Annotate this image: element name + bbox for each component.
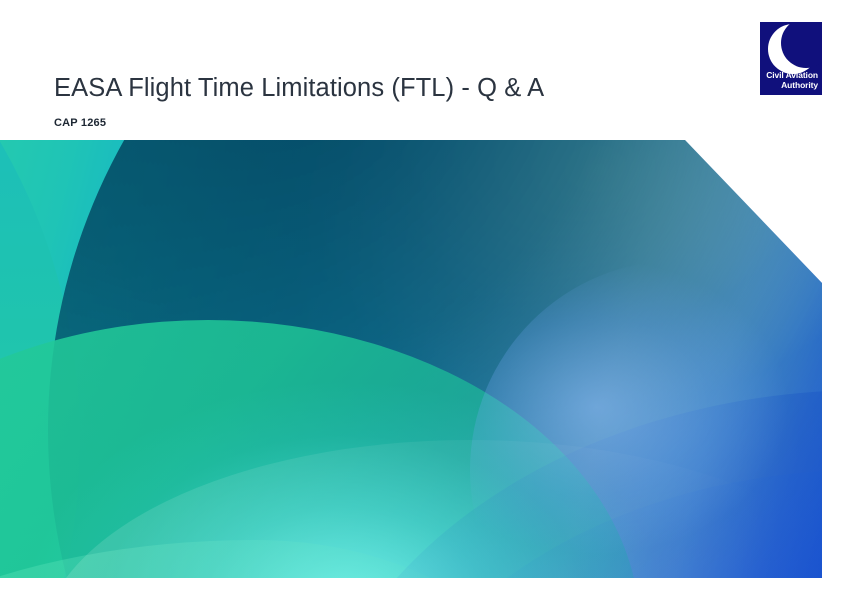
page-title: EASA Flight Time Limitations (FTL) - Q &… <box>54 76 544 102</box>
hero-artwork <box>0 140 822 578</box>
page-header: EASA Flight Time Limitations (FTL) - Q &… <box>0 0 842 140</box>
caa-logo-text: Civil Aviation Authority <box>766 71 818 91</box>
caa-logo: Civil Aviation Authority <box>760 22 822 95</box>
caa-logo-line-2: Authority <box>766 81 818 91</box>
page-subtitle-cap-number: CAP 1265 <box>54 118 106 129</box>
